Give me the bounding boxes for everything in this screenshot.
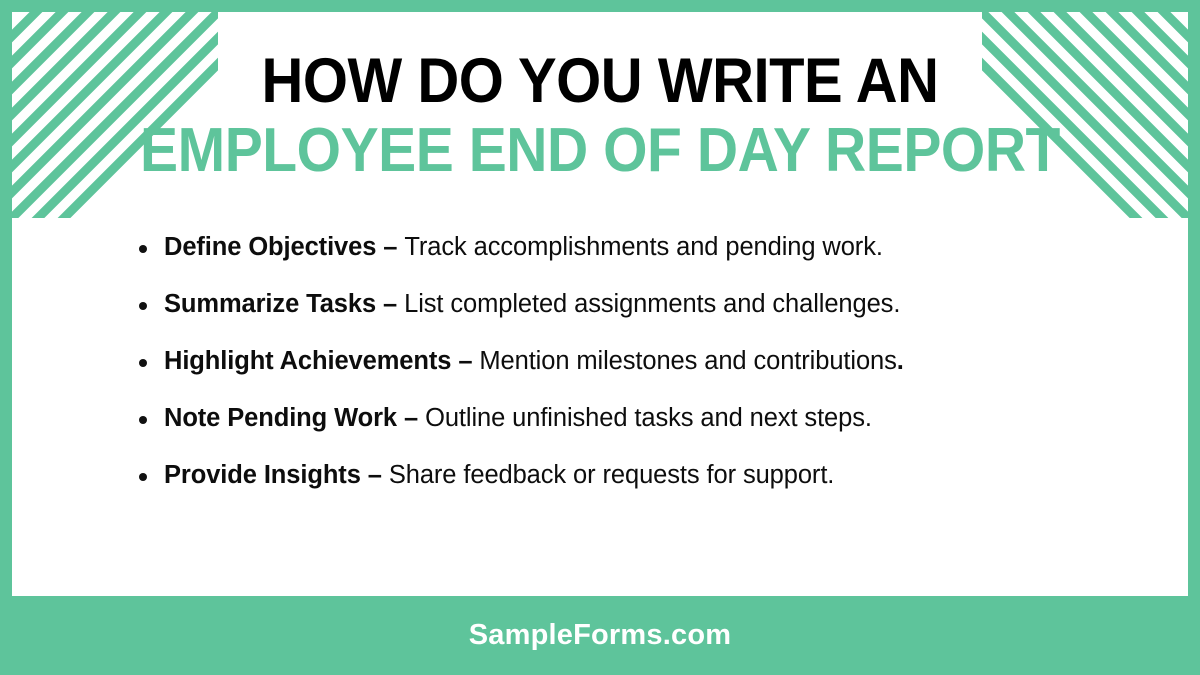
footer-bar: SampleForms.com — [0, 596, 1200, 675]
brand-label: SampleForms.com — [469, 619, 731, 652]
list-item-trailing-punctuation: . — [897, 347, 904, 375]
bullet-icon — [139, 359, 147, 367]
bullet-icon — [139, 245, 147, 253]
list-item-dash: – — [361, 461, 389, 489]
list-item: Note Pending Work – Outline unfinished t… — [130, 390, 1120, 447]
list-item-lead: Provide Insights — [164, 461, 361, 489]
title-line-primary: HOW DO YOU WRITE AN — [59, 46, 1141, 116]
bullet-icon — [139, 416, 147, 424]
list-item-dash: – — [376, 290, 404, 318]
list-item: Highlight Achievements – Mention milesto… — [130, 333, 1120, 390]
list-item: Summarize Tasks – List completed assignm… — [130, 276, 1120, 333]
list-item-lead: Note Pending Work — [164, 404, 397, 432]
list-item-dash: – — [451, 347, 479, 375]
list-item-body: Mention milestones and contributions — [479, 347, 896, 375]
list-item-body: Share feedback or requests for support. — [389, 461, 834, 489]
poster: HOW DO YOU WRITE AN EMPLOYEE END OF DAY … — [0, 0, 1200, 675]
steps-list: Define Objectives – Track accomplishment… — [130, 219, 1120, 504]
list-item-lead: Summarize Tasks — [164, 290, 376, 318]
list-item: Provide Insights – Share feedback or req… — [130, 447, 1120, 504]
bullet-icon — [139, 302, 147, 310]
list-item-body: Track accomplishments and pending work. — [404, 233, 882, 261]
list-item-dash: – — [376, 233, 404, 261]
title-line-accent: EMPLOYEE END OF DAY REPORT — [59, 116, 1141, 186]
poster-canvas: HOW DO YOU WRITE AN EMPLOYEE END OF DAY … — [12, 12, 1188, 596]
page-title: HOW DO YOU WRITE AN EMPLOYEE END OF DAY … — [12, 46, 1188, 186]
list-item-dash: – — [397, 404, 425, 432]
list-item-lead: Define Objectives — [164, 233, 376, 261]
list-item-body: Outline unfinished tasks and next steps. — [425, 404, 872, 432]
list-item-lead: Highlight Achievements — [164, 347, 451, 375]
list-item: Define Objectives – Track accomplishment… — [130, 219, 1120, 276]
list-item-body: List completed assignments and challenge… — [404, 290, 900, 318]
bullet-icon — [139, 473, 147, 481]
